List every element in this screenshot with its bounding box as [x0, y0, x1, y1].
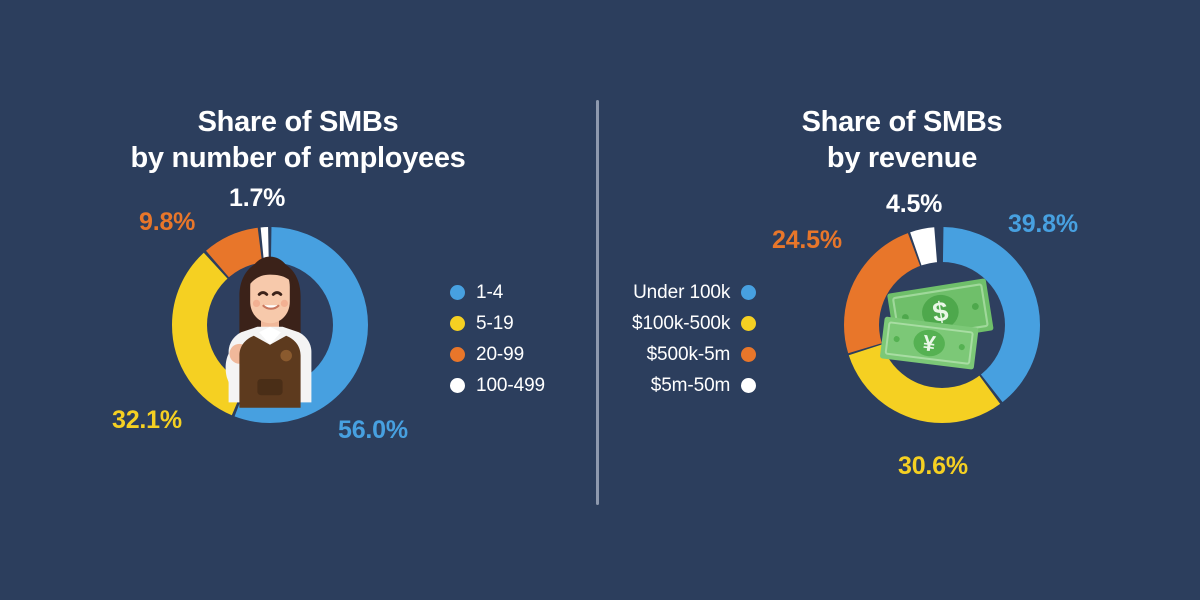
- employees-chart-panel: Share of SMBs by number of employees: [0, 0, 596, 600]
- right-label-under-100k: 39.8%: [1008, 210, 1078, 239]
- right-label-5m-50m: 4.5%: [886, 190, 942, 219]
- white-dot-icon: [741, 378, 756, 393]
- left-donut-center: [207, 262, 333, 388]
- legend-item-1-4[interactable]: 1-4: [450, 283, 503, 302]
- yellow-dot-icon: [450, 316, 465, 331]
- legend-item-20-99[interactable]: 20-99: [450, 345, 524, 364]
- employees-donut-chart: [160, 215, 380, 435]
- infographic-canvas: Share of SMBs by number of employees: [0, 0, 1200, 600]
- right-chart-title-line2: by revenue: [604, 140, 1200, 176]
- legend-item-100-499[interactable]: 100-499: [450, 376, 545, 395]
- left-label-5-19: 32.1%: [112, 406, 182, 435]
- panel-divider: [596, 100, 599, 505]
- white-dot-icon: [450, 378, 465, 393]
- dollar-banknotes-icon: $ ¥: [879, 215, 1005, 435]
- legend-item-under-100k[interactable]: Under 100k: [633, 283, 756, 302]
- legend-item-5m-50m[interactable]: $5m-50m: [651, 376, 757, 395]
- legend-label-5m-50m: $5m-50m: [651, 376, 731, 395]
- legend-item-100k-500k[interactable]: $100k-500k: [632, 314, 756, 333]
- right-chart-title-line1: Share of SMBs: [802, 106, 1003, 138]
- right-donut-center: $ ¥: [879, 262, 1005, 388]
- legend-label-5-19: 5-19: [476, 314, 514, 333]
- legend-label-100-499: 100-499: [476, 376, 545, 395]
- right-label-100k-500k: 30.6%: [898, 452, 968, 481]
- revenue-legend: Under 100k $100k-500k $500k-5m $5m-50m: [632, 283, 756, 395]
- legend-label-20-99: 20-99: [476, 345, 524, 364]
- legend-label-100k-500k: $100k-500k: [632, 314, 730, 333]
- left-label-20-99: 9.8%: [139, 208, 195, 237]
- left-chart-title: Share of SMBs by number of employees: [0, 104, 596, 176]
- left-label-100-499: 1.7%: [229, 184, 285, 213]
- right-label-500k-5m: 24.5%: [772, 226, 842, 255]
- blue-dot-icon: [741, 285, 756, 300]
- legend-label-500k-5m: $500k-5m: [647, 345, 731, 364]
- legend-item-5-19[interactable]: 5-19: [450, 314, 514, 333]
- left-label-1-4: 56.0%: [338, 416, 408, 445]
- small-business-woman-icon: [207, 215, 333, 435]
- legend-label-1-4: 1-4: [476, 283, 503, 302]
- legend-item-500k-5m[interactable]: $500k-5m: [647, 345, 757, 364]
- left-chart-title-line2: by number of employees: [0, 140, 596, 176]
- revenue-donut-chart: $ ¥: [832, 215, 1052, 435]
- yellow-dot-icon: [741, 316, 756, 331]
- legend-label-under-100k: Under 100k: [633, 283, 730, 302]
- orange-dot-icon: [450, 347, 465, 362]
- orange-dot-icon: [741, 347, 756, 362]
- employees-legend: 1-4 5-19 20-99 100-499: [450, 283, 545, 395]
- blue-dot-icon: [450, 285, 465, 300]
- left-chart-title-line1: Share of SMBs: [198, 106, 399, 138]
- right-chart-title: Share of SMBs by revenue: [604, 104, 1200, 176]
